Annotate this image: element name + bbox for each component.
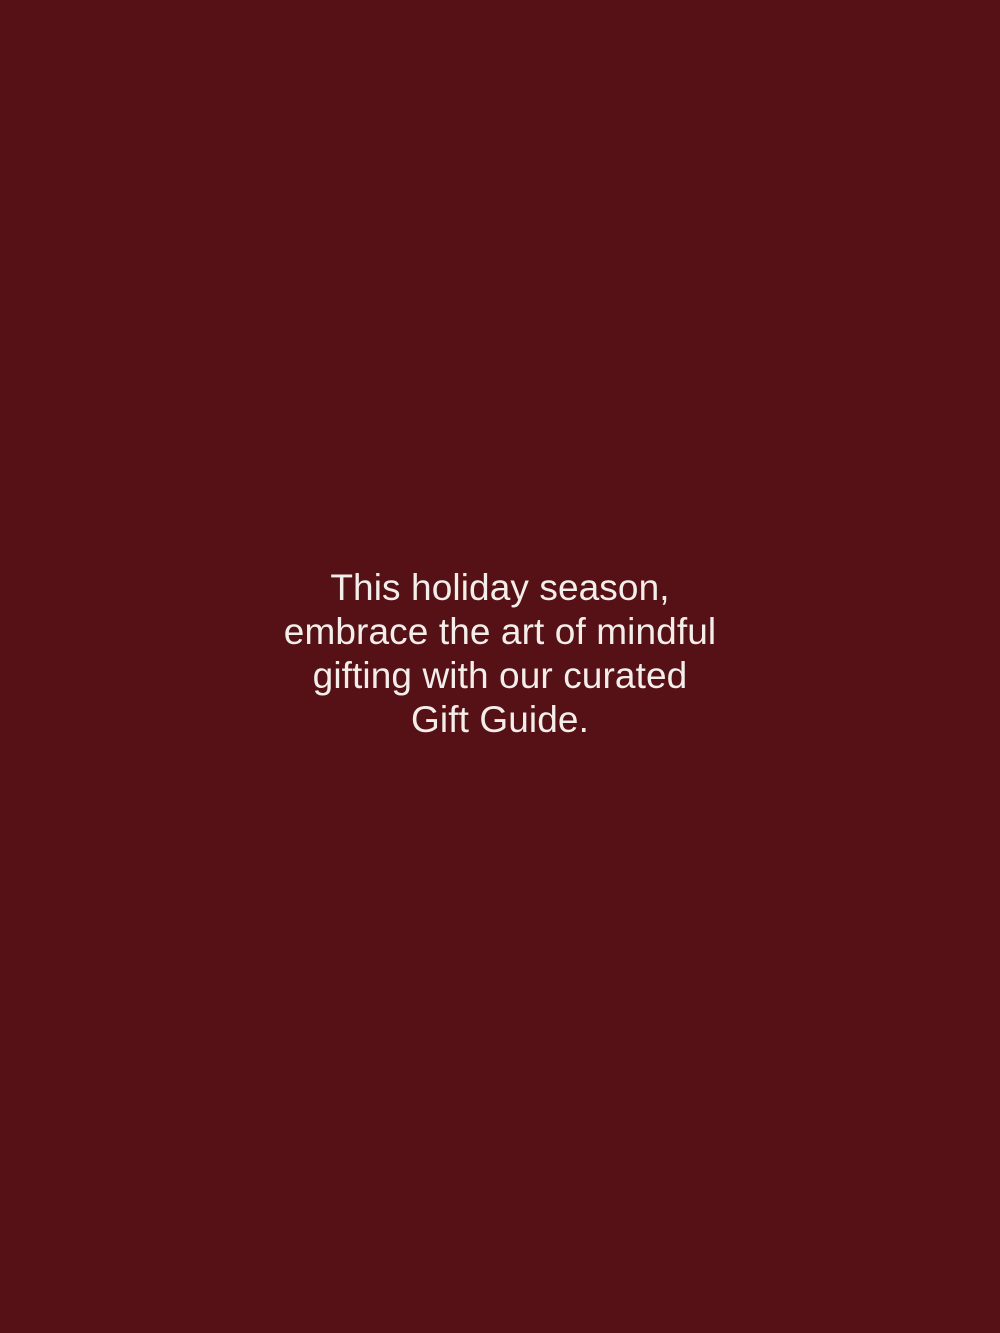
promo-headline: This holiday season, embrace the art of …: [60, 566, 940, 742]
headline-line-2: embrace the art of mindful: [60, 610, 940, 654]
headline-line-3: gifting with our curated: [60, 654, 940, 698]
headline-line-4: Gift Guide.: [60, 698, 940, 742]
headline-line-1: This holiday season,: [60, 566, 940, 610]
headline-block: This holiday season, embrace the art of …: [0, 566, 1000, 742]
promo-canvas: This holiday season, embrace the art of …: [0, 0, 1000, 1333]
